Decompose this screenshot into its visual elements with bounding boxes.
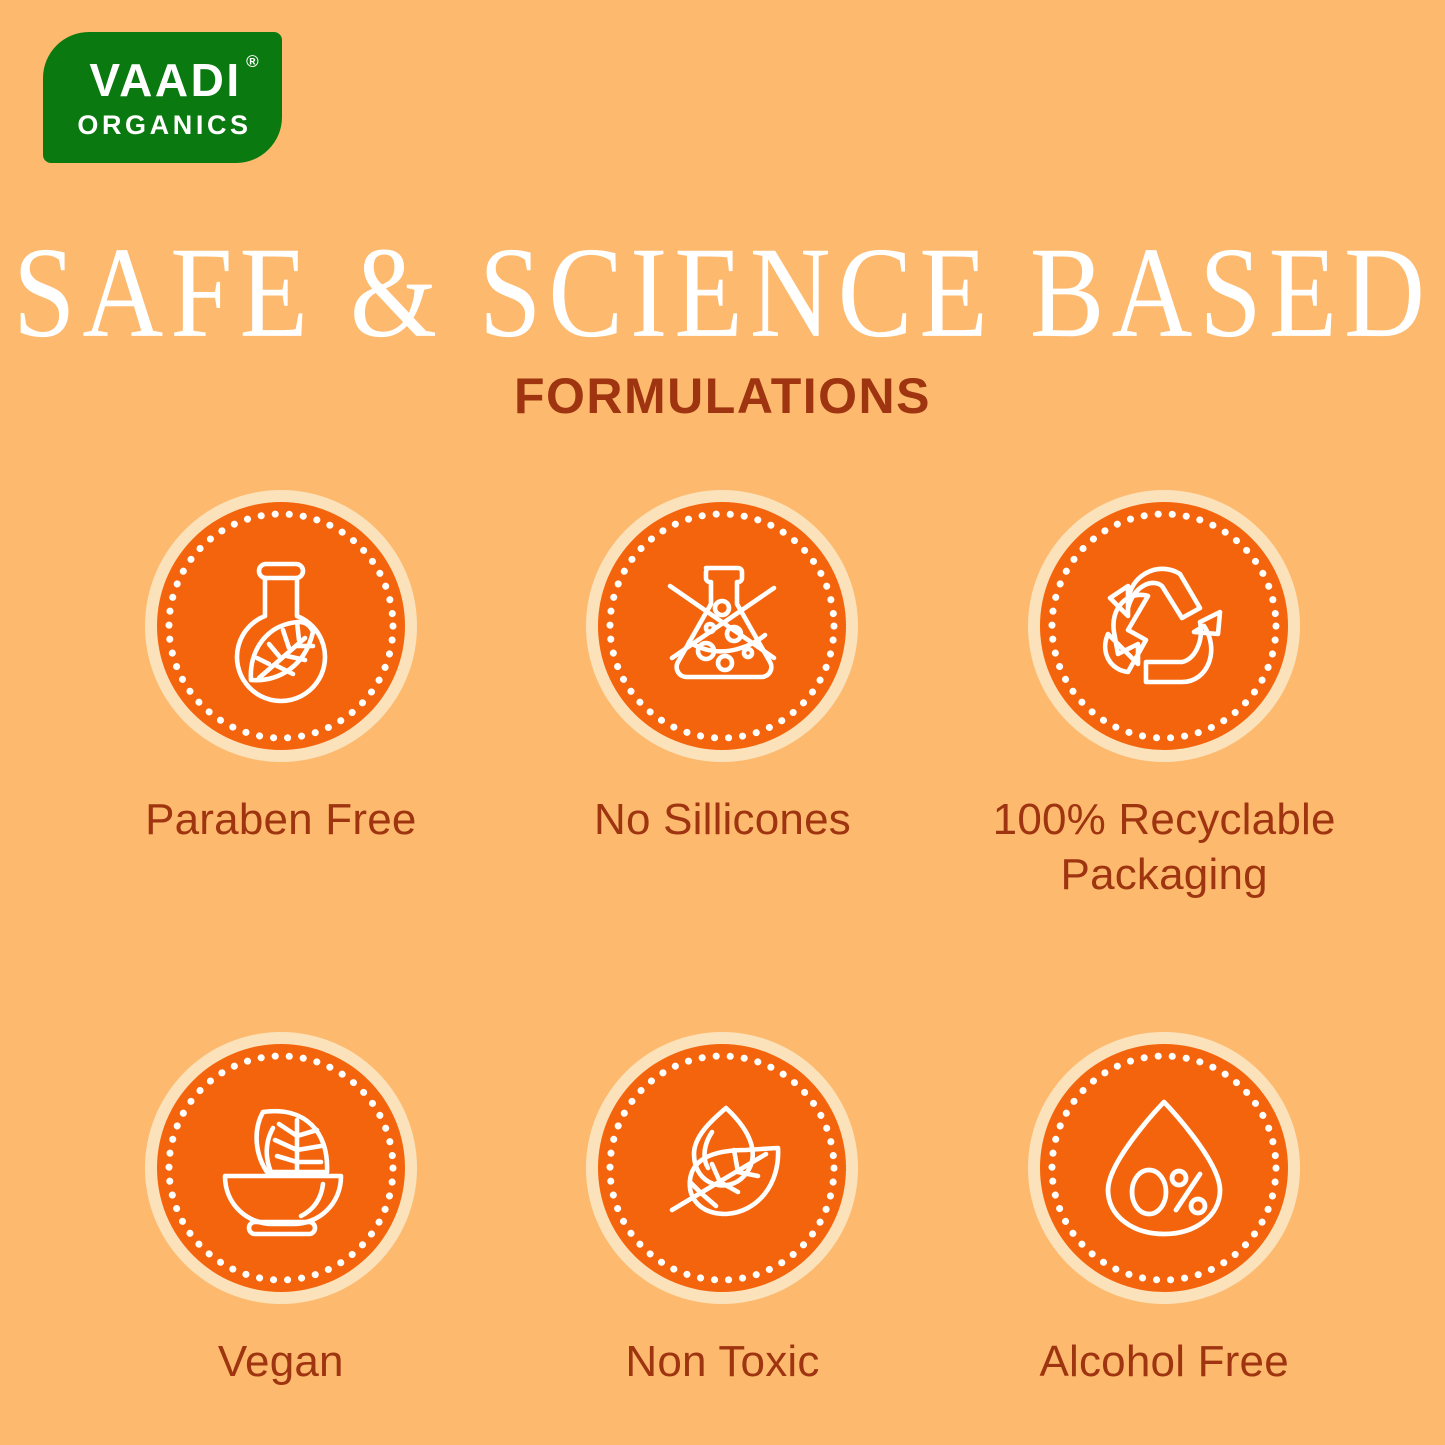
feature-label: Alcohol Free <box>1039 1334 1288 1389</box>
feature-item-no-sillicones: No Sillicones <box>502 490 944 902</box>
feature-item-alcohol-free: Alcohol Free <box>943 1032 1385 1389</box>
badge-disc <box>1040 502 1288 750</box>
promo-banner: VAADI ® ORGANICS SAFE & SCIENCE BASED FO… <box>0 0 1445 1445</box>
badge-disc <box>1040 1044 1288 1292</box>
bowl-leaf-icon <box>201 1088 361 1248</box>
feature-item-recyclable-packaging: 100% Recyclable Packaging <box>943 490 1385 902</box>
flask-leaf-icon <box>201 546 361 706</box>
badge-ring <box>1028 490 1300 762</box>
brand-name-text: VAADI <box>89 54 241 106</box>
brand-name-secondary: ORGANICS <box>73 112 251 139</box>
feature-item-non-toxic: Non Toxic <box>502 1032 944 1389</box>
feature-item-vegan: Vegan <box>60 1032 502 1389</box>
badge-disc <box>157 502 405 750</box>
brand-logo: VAADI ® ORGANICS <box>43 32 282 163</box>
feature-badge-grid: Paraben Free <box>60 490 1385 1389</box>
badge-disc <box>157 1044 405 1292</box>
page-subtitle: FORMULATIONS <box>0 371 1445 421</box>
droplet-leaf-icon <box>642 1088 802 1248</box>
badge-ring <box>1028 1032 1300 1304</box>
recycle-icon <box>1084 546 1244 706</box>
feature-label: 100% Recyclable Packaging <box>993 792 1336 902</box>
badge-ring <box>145 1032 417 1304</box>
feature-label: Paraben Free <box>145 792 416 847</box>
feature-label: Vegan <box>218 1334 344 1389</box>
flask-crossed-out-icon <box>642 546 802 706</box>
feature-label: Non Toxic <box>625 1334 819 1389</box>
page-title: SAFE & SCIENCE BASED <box>0 228 1445 358</box>
badge-ring <box>586 1032 858 1304</box>
registered-trademark-icon: ® <box>246 53 259 70</box>
badge-ring <box>145 490 417 762</box>
feature-label: No Sillicones <box>594 792 851 847</box>
badge-disc <box>598 502 846 750</box>
feature-item-paraben-free: Paraben Free <box>60 490 502 902</box>
badge-disc <box>598 1044 846 1292</box>
droplet-zero-percent-icon <box>1084 1088 1244 1248</box>
badge-ring <box>586 490 858 762</box>
brand-name-primary: VAADI ® <box>83 57 241 103</box>
